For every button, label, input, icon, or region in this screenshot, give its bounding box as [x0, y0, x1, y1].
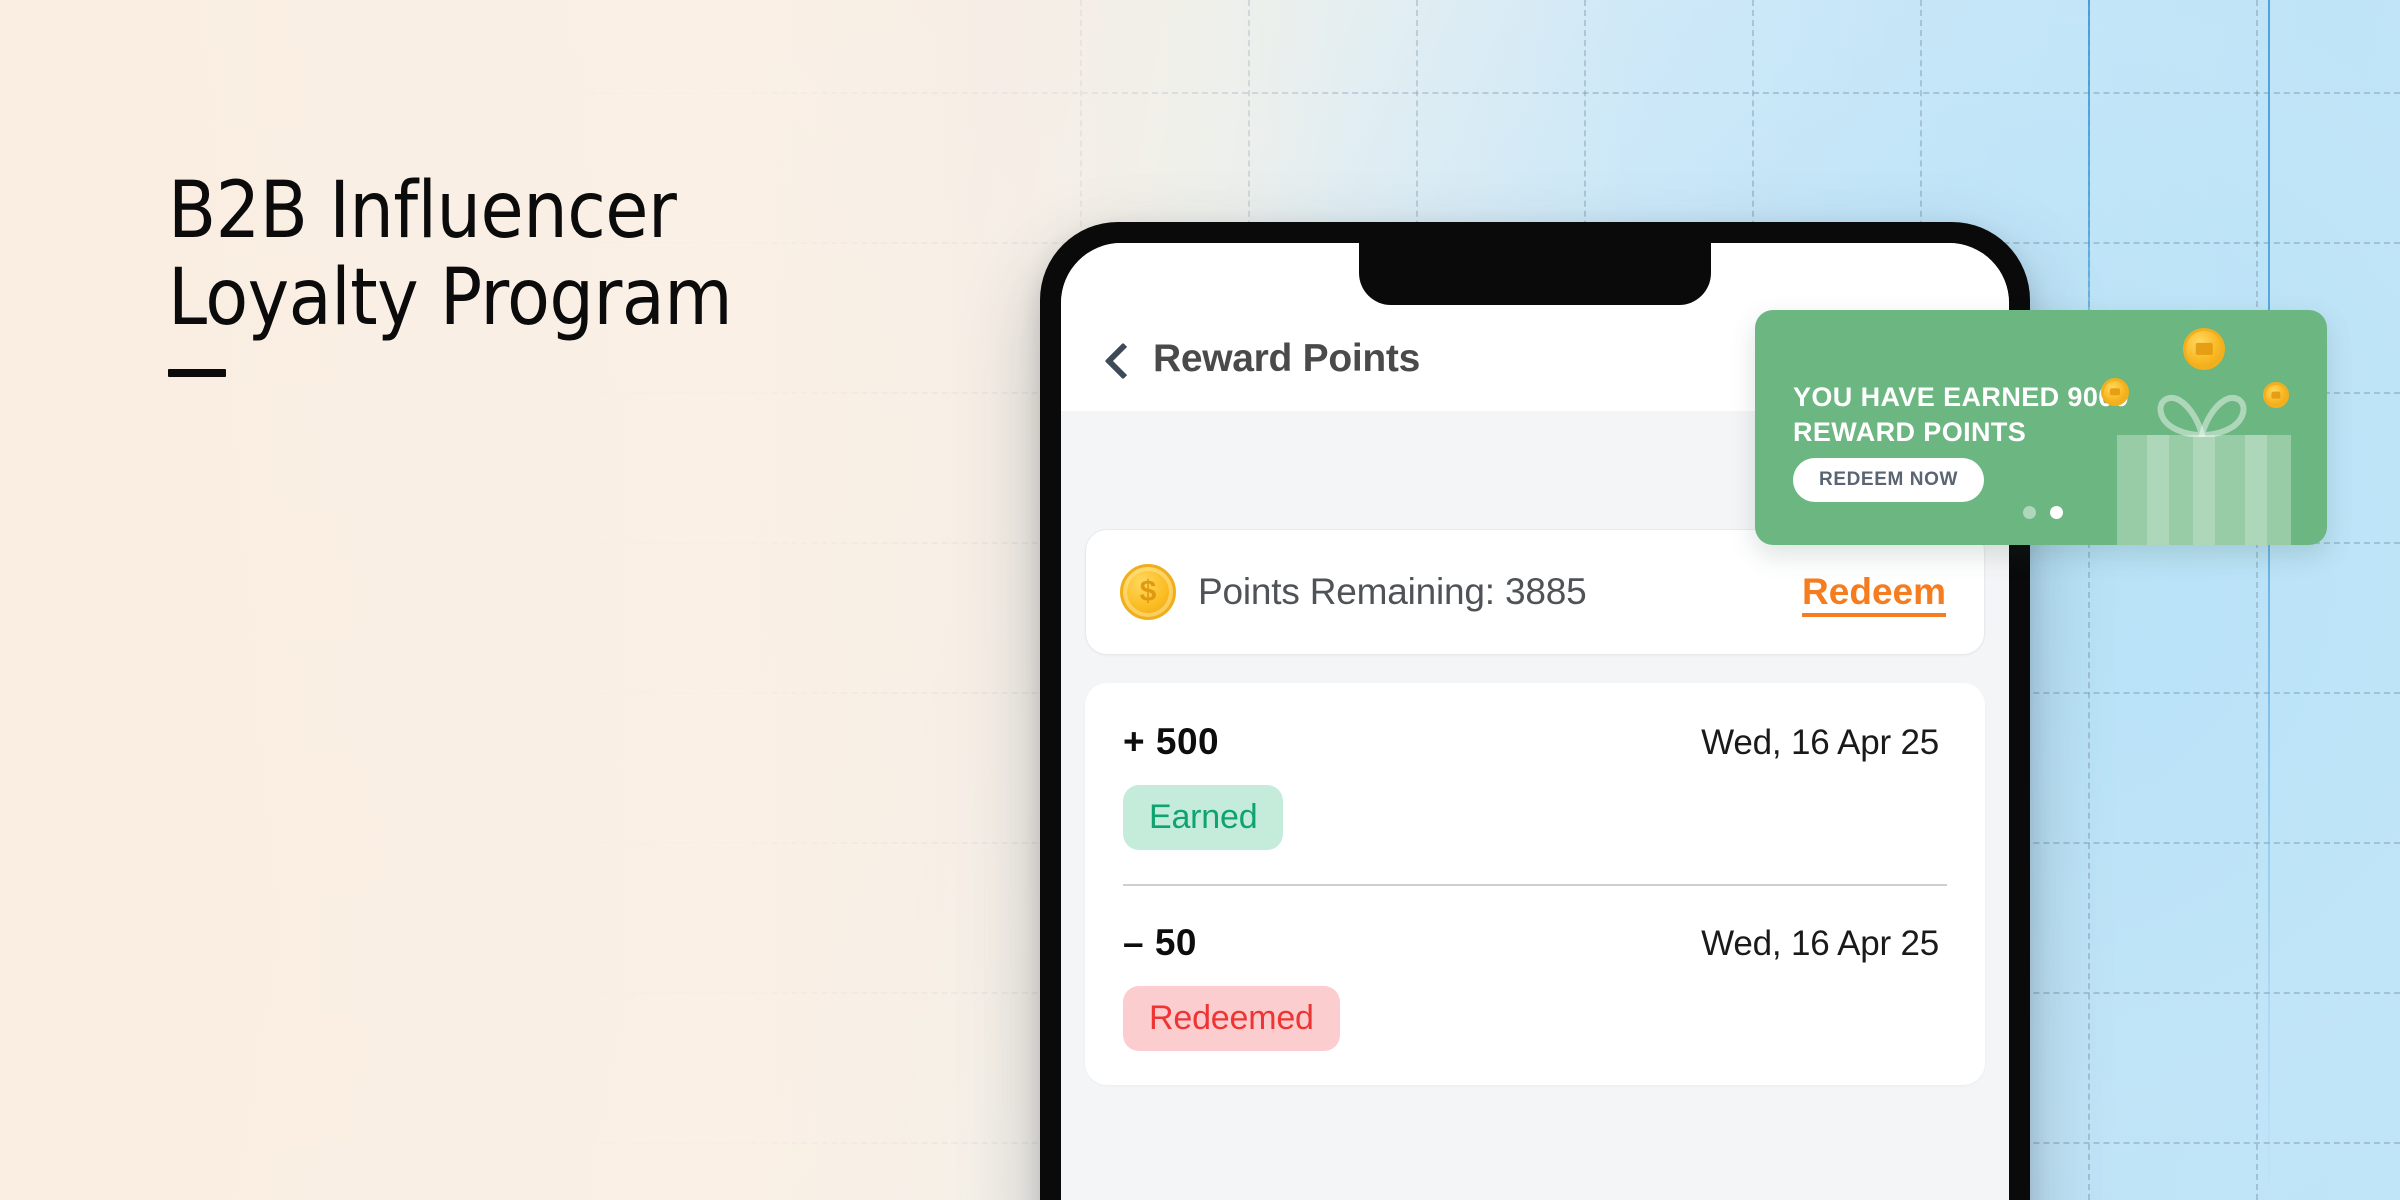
- page-title-line-2: Loyalty Program: [168, 255, 988, 342]
- transaction-row-top: – 50 Wed, 16 Apr 25: [1123, 922, 1947, 964]
- page-title-line-1: B2B Influencer: [168, 168, 988, 255]
- redeem-link[interactable]: Redeem: [1802, 571, 1950, 613]
- gift-box-body: [2117, 435, 2291, 545]
- transaction-amount: – 50: [1123, 922, 1197, 964]
- chevron-left-icon[interactable]: [1099, 343, 1133, 377]
- screen-title: Reward Points: [1153, 337, 1420, 381]
- transaction-row-top: + 500 Wed, 16 Apr 25: [1123, 721, 1947, 763]
- points-remaining-label: Points Remaining: 3885: [1198, 571, 1586, 613]
- transaction-date: Wed, 16 Apr 25: [1701, 723, 1947, 763]
- gold-coin-icon: [2101, 378, 2129, 406]
- transaction-date: Wed, 16 Apr 25: [1701, 924, 1947, 964]
- accent-line-right: [2268, 0, 2270, 1200]
- heading-underline-rule: [168, 369, 226, 377]
- transaction-amount: + 500: [1123, 721, 1219, 763]
- status-badge: Earned: [1123, 785, 1283, 850]
- gift-box-icon: [2109, 385, 2299, 545]
- carousel-dots[interactable]: [2023, 506, 2063, 519]
- gold-coin-icon: [2263, 382, 2289, 408]
- gold-coin-icon: [1120, 564, 1176, 620]
- gold-coin-icon: [2183, 328, 2225, 370]
- table-row[interactable]: + 500 Wed, 16 Apr 25 Earned: [1123, 721, 1947, 884]
- status-badge: Redeemed: [1123, 986, 1340, 1051]
- carousel-dot-1[interactable]: [2023, 506, 2036, 519]
- transaction-list: + 500 Wed, 16 Apr 25 Earned – 50 Wed, 16…: [1085, 683, 1985, 1085]
- points-remaining-card: Points Remaining: 3885 Redeem: [1085, 529, 1985, 655]
- hero-heading: B2B Influencer Loyalty Program: [168, 168, 988, 377]
- phone-notch: [1359, 243, 1711, 305]
- carousel-dot-2[interactable]: [2050, 506, 2063, 519]
- redeem-now-button[interactable]: REDEEM NOW: [1793, 458, 1984, 502]
- gift-bow-icon: [2147, 391, 2257, 437]
- table-row[interactable]: – 50 Wed, 16 Apr 25 Redeemed: [1123, 884, 1947, 1085]
- promo-banner-card[interactable]: YOU HAVE EARNED 9000 REWARD POINTS REDEE…: [1755, 310, 2327, 545]
